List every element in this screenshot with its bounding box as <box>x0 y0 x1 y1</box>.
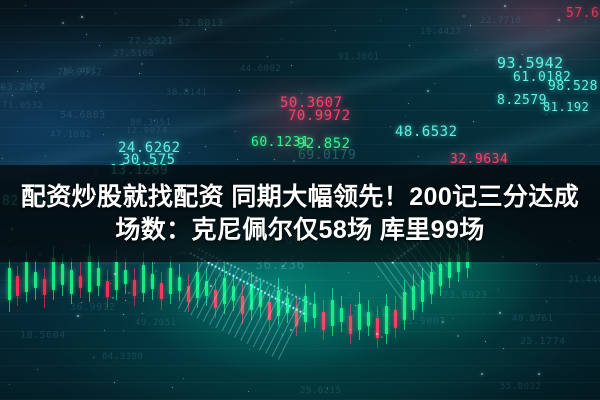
headline-overlay-band: 配资炒股就找配资 同期大幅领先！200记三分达成 场数：克尼佩尔仅58场 库里9… <box>0 165 600 262</box>
headline-line-2: 场数：克尼佩尔仅58场 库里99场 <box>115 214 484 247</box>
news-thumbnail-image: 93.594261.018298.5288.257981.19257.61850… <box>0 0 600 400</box>
headline-line-1: 配资炒股就找配资 同期大幅领先！200记三分达成 <box>21 181 579 214</box>
